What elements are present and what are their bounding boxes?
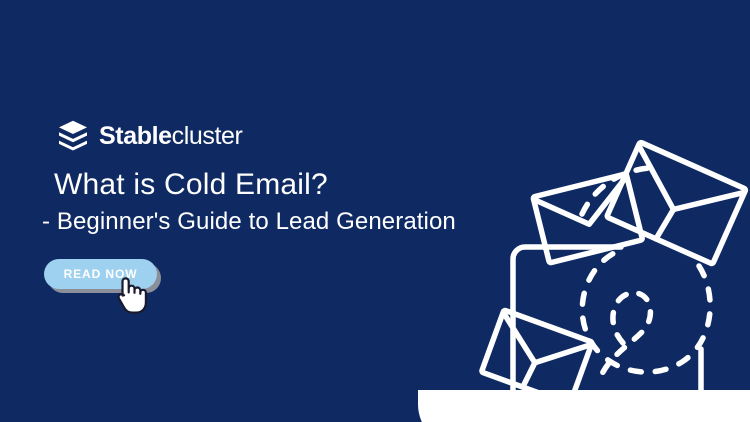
page-title: What is Cold Email? — [54, 168, 328, 202]
brand-wordmark: Stablecluster — [99, 124, 242, 149]
email-marketing-laptop-illustration — [410, 118, 750, 422]
laptop-base — [418, 390, 750, 422]
laptop-outline-icon — [513, 247, 701, 394]
read-now-button[interactable]: READ NOW — [44, 259, 157, 289]
brand-logo: Stablecluster — [58, 118, 242, 154]
brand-name-bold: Stable — [99, 122, 172, 150]
cta-container: READ NOW — [42, 257, 172, 301]
brand-name-regular: cluster — [172, 122, 243, 150]
page-subtitle: - Beginner's Guide to Lead Generation — [42, 208, 456, 236]
dashed-loop-knot-icon — [599, 293, 650, 381]
stacked-layers-icon — [58, 120, 88, 152]
promo-banner: Stablecluster What is Cold Email? - Begi… — [0, 0, 750, 422]
dashed-circle-icon — [582, 252, 710, 372]
